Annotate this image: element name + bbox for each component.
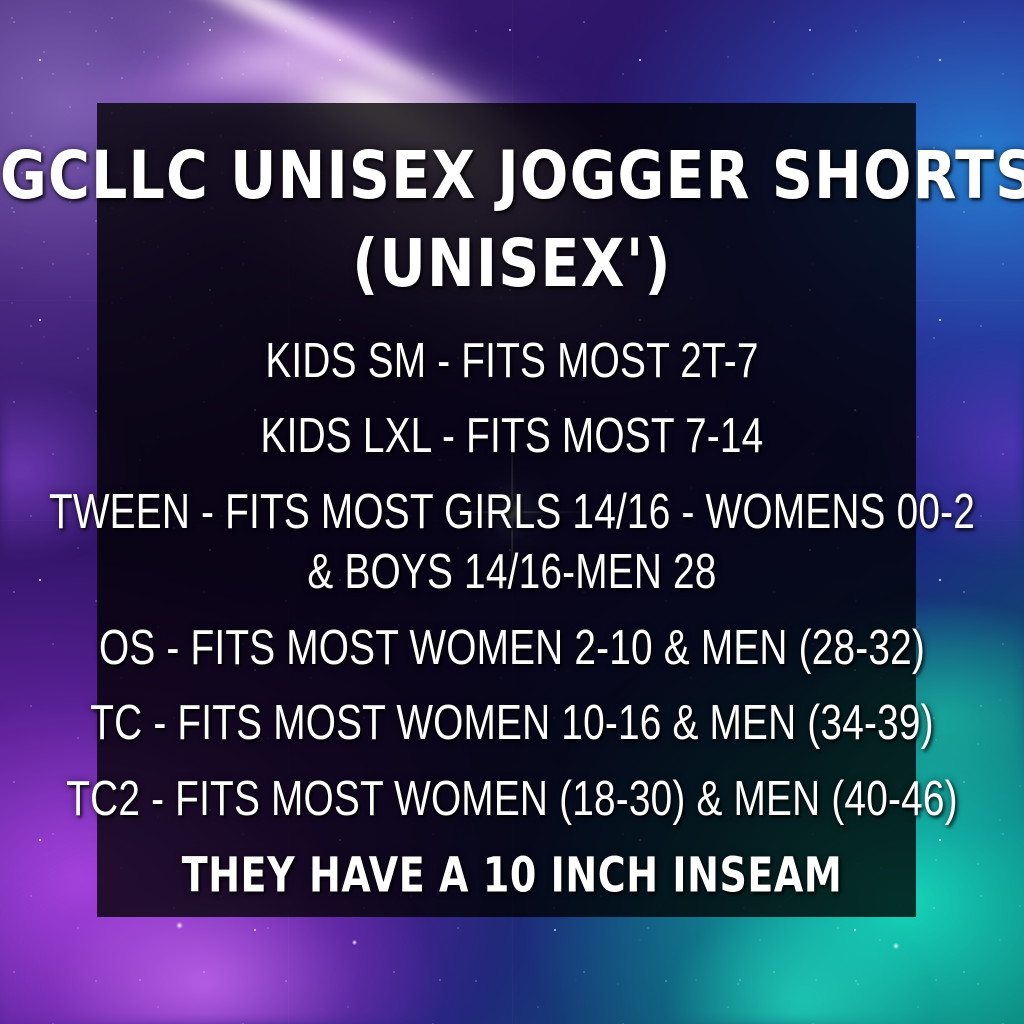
size-line-kids-lxl: KIDS LXL - FITS MOST 7-14 bbox=[15, 412, 1008, 461]
product-subtitle: (UNISEX') bbox=[0, 231, 1024, 297]
product-title: GCLLC UNISEX JOGGER SHORTS bbox=[0, 143, 1024, 209]
size-line-tc: TC - FITS MOST WOMEN 10-16 & MEN (34-39) bbox=[15, 699, 1008, 748]
size-line-tween: TWEEN - FITS MOST GIRLS 14/16 - WOMENS 0… bbox=[15, 488, 1008, 537]
size-line-os: OS - FITS MOST WOMEN 2-10 & MEN (28-32) bbox=[15, 624, 1008, 673]
size-line-tween-continued: & BOYS 14/16-MEN 28 bbox=[15, 548, 1008, 597]
size-line-kids-sm: KIDS SM - FITS MOST 2T-7 bbox=[15, 337, 1008, 386]
size-chart-text-block: GCLLC UNISEX JOGGER SHORTS (UNISEX') KID… bbox=[0, 0, 1024, 1024]
galaxy-size-chart-graphic: GCLLC UNISEX JOGGER SHORTS (UNISEX') KID… bbox=[0, 0, 1024, 1024]
size-line-tc2: TC2 - FITS MOST WOMEN (18-30) & MEN (40-… bbox=[15, 775, 1008, 824]
inseam-note: THEY HAVE A 10 INCH INSEAM bbox=[26, 852, 999, 900]
